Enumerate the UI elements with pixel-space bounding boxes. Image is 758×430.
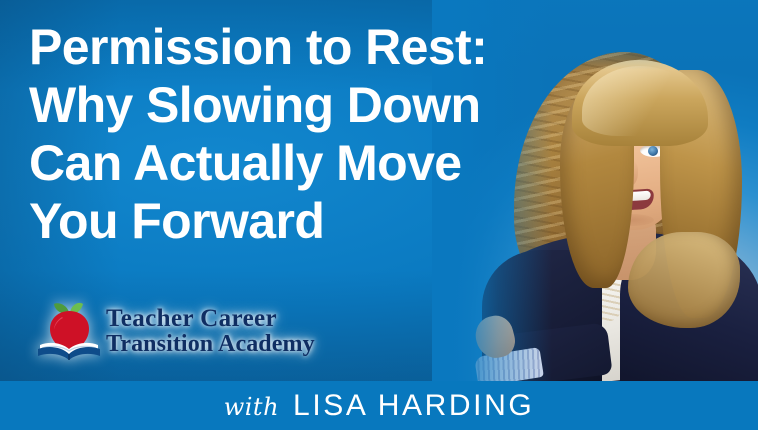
brand-logo-line-2: Transition Academy [106, 332, 315, 356]
episode-title-line-1: Permission to Rest: [29, 18, 589, 76]
episode-title-line-2: Why Slowing Down [29, 76, 589, 134]
iris-right [648, 146, 658, 156]
podcast-cover-graphic: Permission to Rest: Why Slowing Down Can… [0, 0, 758, 430]
with-label: with [224, 393, 279, 421]
apple-book-icon [36, 299, 102, 363]
host-name: LISA HARDING [293, 389, 534, 423]
brand-logo: Teacher Career Transition Academy [36, 296, 336, 366]
brand-logo-line-1: Teacher Career [106, 306, 315, 331]
episode-title-line-3: Can Actually Move [29, 134, 589, 192]
hair-front-lock [628, 232, 740, 328]
host-credit-bar: with LISA HARDING [0, 381, 758, 430]
episode-title: Permission to Rest: Why Slowing Down Can… [29, 18, 589, 250]
episode-title-line-4: You Forward [29, 192, 589, 250]
brand-logo-text: Teacher Career Transition Academy [106, 306, 315, 356]
